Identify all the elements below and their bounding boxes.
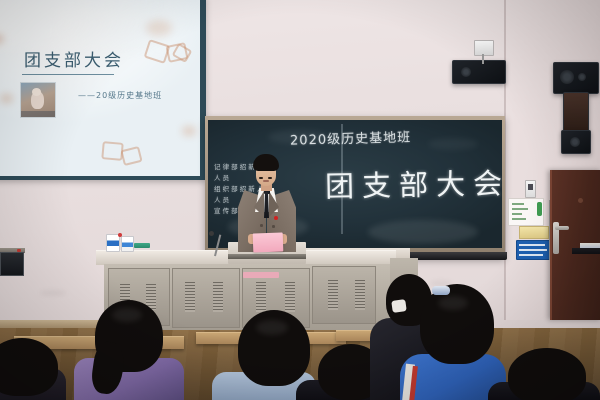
slide-decoration-blob xyxy=(146,20,172,36)
lapel-badge-pin xyxy=(274,216,278,220)
slide-subtitle: ——20级历史基地班 xyxy=(78,90,162,101)
slide-decoration-blob xyxy=(182,126,196,136)
mouth xyxy=(263,180,269,182)
presenting-student xyxy=(236,154,298,258)
cabinet-vent xyxy=(328,280,338,310)
slide-title-underline xyxy=(22,74,114,75)
corner-desk xyxy=(575,250,600,300)
slide-title: 团支部大会 xyxy=(24,46,124,71)
blackboard-main-title-text: 团支部大会 xyxy=(325,160,502,205)
yellow-notice xyxy=(519,226,549,239)
switch-indicator xyxy=(528,184,533,190)
side-wall-monitor xyxy=(0,252,24,276)
blackboard-heading-text: 2020级历史基地班 xyxy=(290,126,412,148)
microphone-head xyxy=(209,231,214,236)
door-peephole xyxy=(578,198,583,203)
electrical-box xyxy=(474,40,494,56)
chalk-dust xyxy=(428,138,478,150)
hair-highlight xyxy=(256,320,288,335)
projection-screen-surface: 团支部大会 ——20级历史基地班 xyxy=(0,0,200,176)
cabinet-vent xyxy=(256,282,266,312)
wall-speaker-lower xyxy=(561,130,591,154)
slide-triangle-decoration xyxy=(120,146,142,166)
green-eraser xyxy=(134,243,150,248)
cabinet-vent xyxy=(185,282,195,312)
slide-photo-thumbnail xyxy=(20,82,56,118)
classroom-presentation-photo: 团支部大会 ——20级历史基地班 2020级历史基地班 团支部大会 记 律 部 … xyxy=(0,0,600,400)
cabinet-vent xyxy=(355,280,365,310)
electrical-cable xyxy=(482,54,484,64)
eye-left xyxy=(259,177,263,179)
cabinet-vent xyxy=(213,282,223,312)
projection-screen-frame: 团支部大会 ——20级历史基地班 xyxy=(0,0,206,180)
screen-glare xyxy=(56,8,200,48)
desk-pink-label xyxy=(243,272,279,278)
chalk-dust xyxy=(368,220,478,244)
slide-decoration-blob xyxy=(0,94,13,103)
speaker-cone xyxy=(461,67,471,77)
hair-highlight xyxy=(112,308,142,322)
presentation-papers xyxy=(253,232,284,252)
chalk-box-blue-white-2 xyxy=(121,236,134,252)
hair-clip xyxy=(432,286,450,295)
slide-photo-caption-bar xyxy=(21,111,55,117)
exit-figure-sign xyxy=(537,202,542,216)
wall-speaker-left xyxy=(452,60,506,84)
jacket-button xyxy=(272,225,275,228)
speaker-cone xyxy=(578,73,586,81)
side-indicator-light xyxy=(17,249,21,252)
student-far-right-head xyxy=(508,348,586,400)
cabinet-vent xyxy=(285,282,295,312)
hair xyxy=(253,154,279,171)
hair-highlight xyxy=(438,296,468,310)
blue-safety-sign xyxy=(516,240,550,260)
door-lever-handle[interactable] xyxy=(555,226,569,230)
speaker-cone xyxy=(560,70,574,84)
wall-smudge xyxy=(40,290,66,296)
light-switch-panel[interactable] xyxy=(525,180,536,198)
wall-speaker-right xyxy=(553,62,599,94)
desk-small-red-item xyxy=(118,233,122,237)
slide-photo-subject-head xyxy=(32,88,41,96)
desk-cabinet-panel xyxy=(312,266,376,324)
chalk-box-blue-white xyxy=(106,234,120,252)
desk-cabinet-panel xyxy=(172,268,240,328)
speaker-cone xyxy=(570,137,580,147)
face-mask xyxy=(391,299,407,313)
jacket-button xyxy=(260,224,263,227)
eye-right xyxy=(268,177,272,179)
